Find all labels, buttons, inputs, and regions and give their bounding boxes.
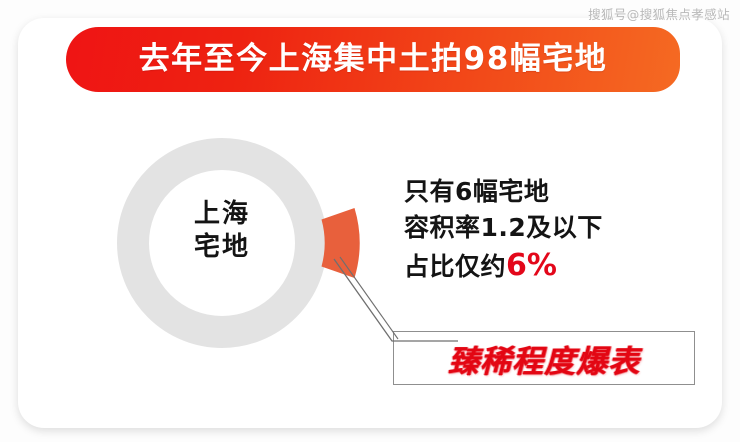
title-banner: 去年至今上海集中土拍98幅宅地	[66, 27, 680, 92]
annotation-line-2: 容积率1.2及以下	[404, 210, 704, 246]
leader-line	[330, 255, 460, 350]
watermark-label: 搜狐号@搜狐焦点孝感站	[588, 4, 730, 23]
annotation-line-1: 只有6幅宅地	[404, 174, 704, 210]
donut-center-label-line1: 上海	[117, 198, 327, 231]
annotation-percentage-value: 6%	[506, 248, 557, 283]
callout-box-text: 臻稀程度爆表	[448, 336, 640, 381]
leader-line-path-outer	[334, 259, 458, 341]
banner-title-text: 去年至今上海集中土拍98幅宅地	[139, 44, 608, 75]
donut-center-label-line2: 宅地	[117, 231, 327, 264]
leader-line-path-inner	[340, 257, 398, 339]
infographic-canvas: 搜狐号@搜狐焦点孝感站 去年至今上海集中土拍98幅宅地 上海 宅地 只有6幅宅地…	[0, 0, 740, 442]
donut-center-label: 上海 宅地	[117, 198, 327, 265]
